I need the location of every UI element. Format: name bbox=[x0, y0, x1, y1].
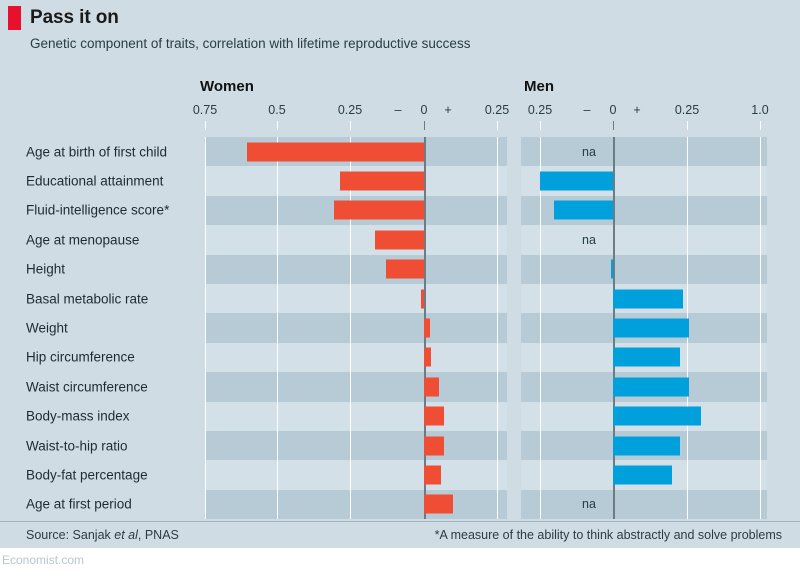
axis-tick-label-men-0: 0.25 bbox=[528, 103, 552, 117]
gridline-women-2 bbox=[350, 431, 351, 460]
axis-tick-label-women-0: 0.75 bbox=[193, 103, 217, 117]
gridline-women-2 bbox=[350, 255, 351, 284]
bar-women bbox=[424, 466, 441, 485]
axis-tick-label-women-5: + bbox=[444, 103, 451, 117]
source-italic: et al bbox=[114, 528, 138, 542]
chart-row: Educational attainment bbox=[0, 166, 800, 195]
gridline-men-0 bbox=[540, 372, 541, 401]
row-band-men bbox=[521, 137, 767, 166]
gridline-women-1 bbox=[277, 196, 278, 225]
gridline-women-1 bbox=[277, 284, 278, 313]
bar-women bbox=[334, 201, 424, 220]
row-band-women bbox=[205, 431, 507, 460]
gridline-women-6 bbox=[497, 431, 498, 460]
gridline-men-0 bbox=[540, 196, 541, 225]
axis-tick-mark-men-4 bbox=[687, 121, 688, 130]
zero-axis-line-men bbox=[613, 166, 615, 195]
axis-tick-mark-men-0 bbox=[540, 121, 541, 130]
na-label-men: na bbox=[582, 145, 596, 159]
bar-women bbox=[247, 142, 424, 161]
gridline-men-0 bbox=[540, 431, 541, 460]
axis-tick-label-men-3: + bbox=[633, 103, 640, 117]
row-band-women bbox=[205, 255, 507, 284]
page-title: Pass it on bbox=[30, 7, 119, 29]
gridline-women-6 bbox=[497, 460, 498, 489]
bar-men bbox=[611, 260, 613, 279]
gridline-women-6 bbox=[497, 225, 498, 254]
zero-axis-line-men bbox=[613, 490, 615, 519]
axis-tick-label-women-2: 0.25 bbox=[338, 103, 362, 117]
gridline-men-4 bbox=[687, 343, 688, 372]
axis-tick-mark-women-6 bbox=[497, 121, 498, 130]
bar-women bbox=[424, 436, 444, 455]
footnote: *A measure of the ability to think abstr… bbox=[435, 528, 782, 542]
bar-men bbox=[613, 289, 683, 308]
gridline-men-4 bbox=[687, 431, 688, 460]
row-label: Waist circumference bbox=[26, 379, 148, 394]
gridline-men-4 bbox=[687, 284, 688, 313]
zero-axis-line-women bbox=[424, 284, 426, 313]
bar-men bbox=[613, 466, 672, 485]
row-band-women bbox=[205, 372, 507, 401]
gridline-men-5 bbox=[760, 196, 761, 225]
bar-women bbox=[424, 348, 431, 367]
gridline-women-6 bbox=[497, 284, 498, 313]
chart-row: Body-mass index bbox=[0, 402, 800, 431]
bar-men bbox=[613, 348, 680, 367]
gridline-men-5 bbox=[760, 166, 761, 195]
axis-tick-mark-men-5 bbox=[760, 121, 761, 130]
gridline-men-4 bbox=[687, 490, 688, 519]
gridline-men-5 bbox=[760, 372, 761, 401]
axis-tick-mark-women-0 bbox=[205, 121, 206, 130]
row-band-women bbox=[205, 460, 507, 489]
gridline-women-0 bbox=[205, 313, 206, 342]
gridline-women-0 bbox=[205, 372, 206, 401]
bar-men bbox=[554, 201, 613, 220]
gridline-women-2 bbox=[350, 402, 351, 431]
gridline-men-4 bbox=[687, 460, 688, 489]
axis-tick-label-men-5: 1.0 bbox=[751, 103, 768, 117]
gridline-men-0 bbox=[540, 137, 541, 166]
gridline-women-6 bbox=[497, 166, 498, 195]
row-band-women bbox=[205, 284, 507, 313]
bar-women bbox=[386, 260, 424, 279]
chart-row: Height bbox=[0, 255, 800, 284]
axis-tick-mark-women-4 bbox=[424, 121, 425, 130]
gridline-women-6 bbox=[497, 372, 498, 401]
gridline-men-0 bbox=[540, 402, 541, 431]
bar-women bbox=[424, 495, 453, 514]
gridline-women-1 bbox=[277, 313, 278, 342]
axis-tick-label-men-1: – bbox=[584, 103, 591, 117]
gridline-women-1 bbox=[277, 490, 278, 519]
panel-caption-women: Women bbox=[200, 78, 254, 95]
axis-tick-mark-women-2 bbox=[350, 121, 351, 130]
gridline-men-0 bbox=[540, 460, 541, 489]
gridline-women-6 bbox=[497, 313, 498, 342]
row-band-women bbox=[205, 490, 507, 519]
source-line: Source: Sanjak et al, PNAS bbox=[26, 528, 179, 542]
footer-divider bbox=[0, 521, 800, 522]
row-label: Body-fat percentage bbox=[26, 468, 148, 483]
gridline-women-0 bbox=[205, 460, 206, 489]
gridline-men-5 bbox=[760, 313, 761, 342]
chart-row: Weight bbox=[0, 313, 800, 342]
axis-tick-label-men-2: 0 bbox=[610, 103, 617, 117]
zero-axis-line-women bbox=[424, 137, 426, 166]
row-label: Waist-to-hip ratio bbox=[26, 438, 128, 453]
axis-tick-label-women-4: 0 bbox=[421, 103, 428, 117]
gridline-women-1 bbox=[277, 255, 278, 284]
bar-women bbox=[424, 407, 444, 426]
na-label-men: na bbox=[582, 497, 596, 511]
gridline-women-0 bbox=[205, 137, 206, 166]
gridline-men-5 bbox=[760, 255, 761, 284]
row-band-women bbox=[205, 313, 507, 342]
axis-tick-label-women-3: – bbox=[395, 103, 402, 117]
zero-axis-line-women bbox=[424, 255, 426, 284]
chart-row: Hip circumference bbox=[0, 343, 800, 372]
chart-row: Waist circumference bbox=[0, 372, 800, 401]
chart-row: Fluid-intelligence score* bbox=[0, 196, 800, 225]
bar-women bbox=[375, 230, 424, 249]
chart-row: Waist-to-hip ratio bbox=[0, 431, 800, 460]
zero-axis-line-women bbox=[424, 225, 426, 254]
bar-women bbox=[421, 289, 424, 308]
row-band-women bbox=[205, 225, 507, 254]
zero-axis-line-men bbox=[613, 137, 615, 166]
row-band-men bbox=[521, 225, 767, 254]
gridline-women-0 bbox=[205, 255, 206, 284]
gridline-men-4 bbox=[687, 196, 688, 225]
gridline-women-0 bbox=[205, 166, 206, 195]
gridline-women-0 bbox=[205, 196, 206, 225]
panel-caption-men: Men bbox=[524, 78, 554, 95]
gridline-women-0 bbox=[205, 490, 206, 519]
row-band-men bbox=[521, 490, 767, 519]
gridline-men-5 bbox=[760, 284, 761, 313]
gridline-women-0 bbox=[205, 402, 206, 431]
zero-axis-line-men bbox=[613, 225, 615, 254]
gridline-women-1 bbox=[277, 372, 278, 401]
row-label: Age at menopause bbox=[26, 232, 139, 247]
bar-women bbox=[424, 377, 439, 396]
gridline-women-2 bbox=[350, 372, 351, 401]
gridline-women-2 bbox=[350, 490, 351, 519]
gridline-women-2 bbox=[350, 284, 351, 313]
gridline-women-2 bbox=[350, 460, 351, 489]
gridline-women-2 bbox=[350, 343, 351, 372]
gridline-women-1 bbox=[277, 431, 278, 460]
gridline-women-1 bbox=[277, 343, 278, 372]
chart-row: Age at first periodna bbox=[0, 490, 800, 519]
plot-area: Age at birth of first childnaEducational… bbox=[0, 137, 800, 521]
gridline-women-2 bbox=[350, 225, 351, 254]
white-strip bbox=[0, 548, 800, 577]
gridline-women-1 bbox=[277, 166, 278, 195]
gridline-women-1 bbox=[277, 460, 278, 489]
gridline-women-6 bbox=[497, 137, 498, 166]
gridline-women-6 bbox=[497, 255, 498, 284]
source-prefix: Source: Sanjak bbox=[26, 528, 114, 542]
gridline-men-5 bbox=[760, 431, 761, 460]
gridline-men-5 bbox=[760, 225, 761, 254]
chart-row: Age at menopausena bbox=[0, 225, 800, 254]
gridline-men-0 bbox=[540, 343, 541, 372]
gridline-men-4 bbox=[687, 225, 688, 254]
chart-row: Basal metabolic rate bbox=[0, 284, 800, 313]
gridline-women-6 bbox=[497, 196, 498, 225]
row-band-women bbox=[205, 343, 507, 372]
gridline-men-5 bbox=[760, 402, 761, 431]
bar-men bbox=[613, 377, 689, 396]
gridline-men-0 bbox=[540, 284, 541, 313]
axis-tick-label-women-6: 0.25 bbox=[485, 103, 509, 117]
gridline-women-6 bbox=[497, 343, 498, 372]
brand-economist: Economist.com bbox=[2, 553, 84, 567]
gridline-women-0 bbox=[205, 431, 206, 460]
gridline-women-0 bbox=[205, 343, 206, 372]
row-label: Age at birth of first child bbox=[26, 144, 167, 159]
bar-men bbox=[540, 172, 613, 191]
gridline-women-6 bbox=[497, 490, 498, 519]
row-label: Height bbox=[26, 262, 65, 277]
bar-women bbox=[424, 319, 430, 338]
bar-men bbox=[613, 436, 680, 455]
row-label: Weight bbox=[26, 321, 68, 336]
gridline-men-5 bbox=[760, 490, 761, 519]
row-label: Basal metabolic rate bbox=[26, 291, 148, 306]
bar-women bbox=[340, 172, 424, 191]
row-label: Fluid-intelligence score* bbox=[26, 203, 169, 218]
zero-axis-line-men bbox=[613, 196, 615, 225]
gridline-men-4 bbox=[687, 137, 688, 166]
row-band-women bbox=[205, 402, 507, 431]
gridline-men-4 bbox=[687, 255, 688, 284]
gridline-men-0 bbox=[540, 255, 541, 284]
gridline-men-0 bbox=[540, 490, 541, 519]
gridline-men-5 bbox=[760, 137, 761, 166]
axis-tick-label-men-4: 0.25 bbox=[675, 103, 699, 117]
row-label: Hip circumference bbox=[26, 350, 135, 365]
axis-tick-label-women-1: 0.5 bbox=[268, 103, 285, 117]
gridline-women-1 bbox=[277, 402, 278, 431]
gridline-men-0 bbox=[540, 313, 541, 342]
axis-tick-mark-men-2 bbox=[613, 121, 614, 130]
zero-axis-line-women bbox=[424, 196, 426, 225]
row-label: Body-mass index bbox=[26, 409, 130, 424]
page-subtitle: Genetic component of traits, correlation… bbox=[30, 36, 470, 51]
gridline-men-5 bbox=[760, 343, 761, 372]
brand-accent-block bbox=[8, 6, 21, 30]
gridline-men-5 bbox=[760, 460, 761, 489]
gridline-women-0 bbox=[205, 284, 206, 313]
row-label: Age at first period bbox=[26, 497, 132, 512]
gridline-women-6 bbox=[497, 402, 498, 431]
row-band-men bbox=[521, 255, 767, 284]
chart-row: Body-fat percentage bbox=[0, 460, 800, 489]
axis-tick-mark-women-1 bbox=[277, 121, 278, 130]
chart-row: Age at birth of first childna bbox=[0, 137, 800, 166]
chart-page: Pass it on Genetic component of traits, … bbox=[0, 0, 800, 577]
na-label-men: na bbox=[582, 233, 596, 247]
bar-men bbox=[613, 407, 701, 426]
zero-axis-line-women bbox=[424, 166, 426, 195]
gridline-women-0 bbox=[205, 225, 206, 254]
gridline-women-2 bbox=[350, 313, 351, 342]
gridline-men-0 bbox=[540, 225, 541, 254]
zero-axis-line-men bbox=[613, 255, 615, 284]
gridline-women-1 bbox=[277, 225, 278, 254]
bar-men bbox=[613, 319, 689, 338]
row-label: Educational attainment bbox=[26, 174, 163, 189]
gridline-men-4 bbox=[687, 166, 688, 195]
source-suffix: , PNAS bbox=[138, 528, 179, 542]
